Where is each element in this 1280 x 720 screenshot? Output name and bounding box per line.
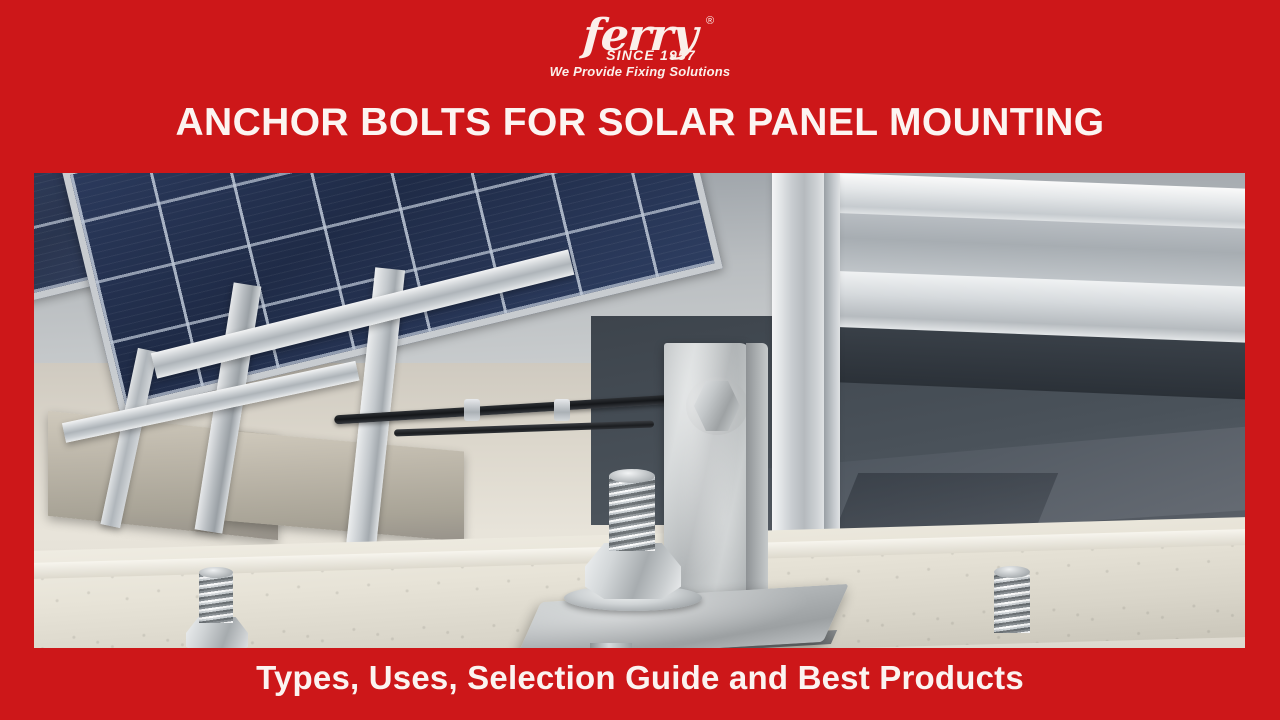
anchor-stud-below-plate: [590, 643, 632, 648]
anchor-stud-top-main: [609, 469, 655, 483]
cable-clip-1: [464, 399, 480, 421]
anchor-threaded-stud-left: [199, 571, 233, 623]
l-bracket-side-face: [746, 343, 768, 615]
hero-photo: [34, 173, 1245, 648]
anchor-stud-top-left: [199, 567, 233, 578]
page-title: ANCHOR BOLTS FOR SOLAR PANEL MOUNTING: [0, 103, 1280, 144]
page-subtitle: Types, Uses, Selection Guide and Best Pr…: [0, 660, 1280, 696]
registered-trademark-icon: ®: [706, 16, 713, 27]
brand-tagline-text: We Provide Fixing Solutions: [0, 65, 1280, 78]
anchor-threaded-stud-right: [994, 571, 1030, 633]
cable-clip-2: [554, 399, 570, 421]
brand-logo: ferry ® SINCE 1957 We Provide Fixing Sol…: [0, 14, 1280, 78]
anchor-stud-top-right: [994, 566, 1030, 578]
brand-name-text: ferry: [581, 10, 698, 61]
anchor-threaded-stud-main: [609, 473, 655, 551]
brand-wordmark: ferry ®: [582, 14, 699, 58]
brand-since-text: SINCE 1957: [0, 48, 1280, 62]
aluminum-post-edge: [824, 173, 840, 585]
anchor-hex-nut-main: [585, 543, 681, 599]
